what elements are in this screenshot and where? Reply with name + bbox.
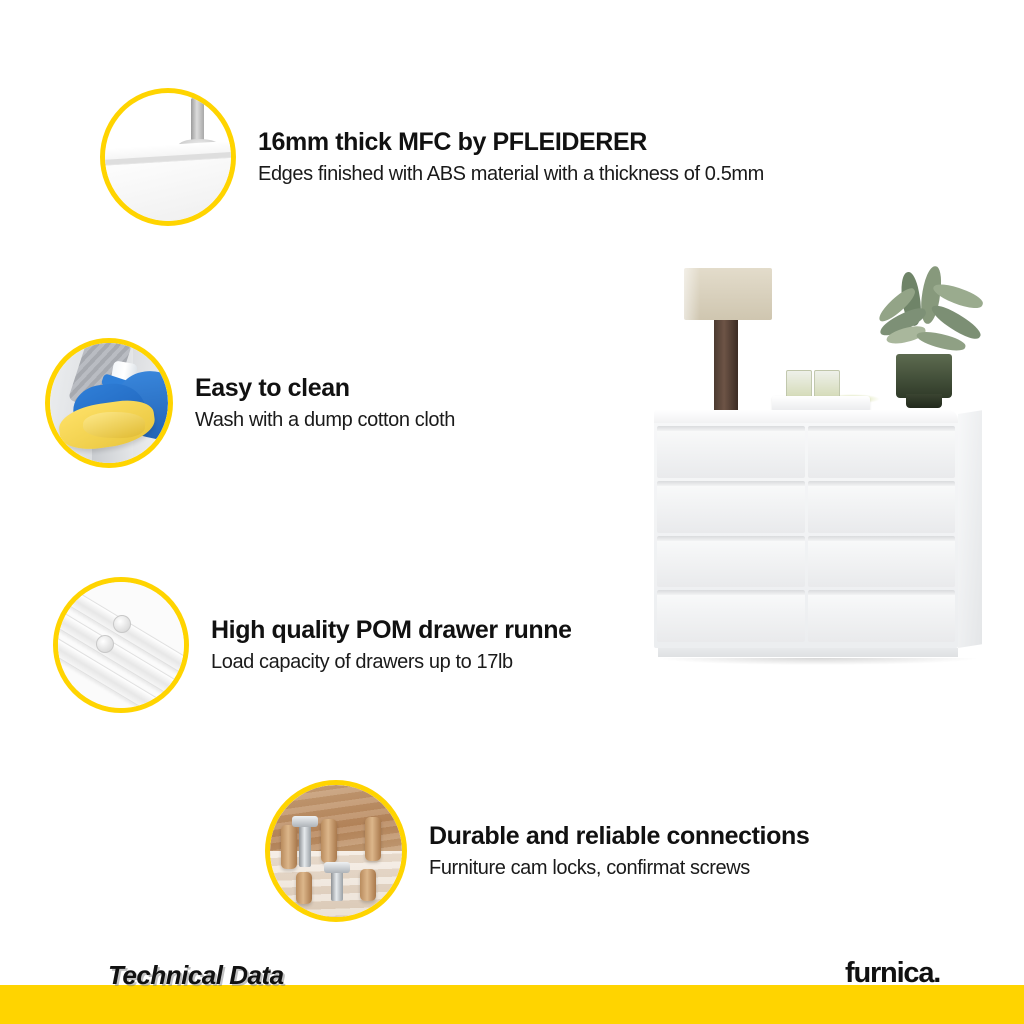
wooden-dowel: [321, 819, 337, 863]
vase-foot: [906, 394, 942, 408]
metal-leg-rod: [191, 98, 204, 144]
drawer-runner-rails-photo: [58, 582, 184, 708]
feature-text-block: Easy to clean Wash with a dump cotton cl…: [195, 375, 455, 430]
confirmat-screw: [331, 867, 343, 901]
table-lamp: [684, 268, 772, 420]
wooden-dowel: [360, 869, 376, 901]
cabinet-edge-icon: [100, 88, 236, 226]
feature-row-mfc-board: 16mm thick MFC by PFLEIDERER Edges finis…: [100, 88, 764, 226]
chest-of-drawers: [654, 410, 982, 660]
lamp-shade: [684, 268, 772, 320]
runner-roller: [96, 635, 114, 653]
feature-subtitle: Edges finished with ABS material with a …: [258, 163, 764, 185]
feature-text-block: Durable and reliable connections Furnitu…: [429, 823, 809, 878]
product-photo: [654, 258, 994, 660]
chest-plinth: [658, 648, 958, 657]
feature-text-block: 16mm thick MFC by PFLEIDERER Edges finis…: [258, 129, 764, 184]
feature-title-clip: High quality POM drawer runners: [211, 617, 571, 643]
drawer-front[interactable]: [808, 426, 956, 478]
cabinet-edge-photo: [105, 93, 231, 221]
feature-title: Easy to clean: [195, 375, 455, 401]
brand-logo: furnica.: [845, 957, 940, 990]
drawer-front[interactable]: [657, 426, 805, 478]
cleaning-icon: [45, 338, 173, 468]
lamp-post: [714, 320, 738, 412]
cabinet-front-panel: [105, 156, 231, 221]
drawer-front[interactable]: [808, 590, 956, 642]
infographic-page: 16mm thick MFC by PFLEIDERER Edges finis…: [0, 0, 1024, 1024]
wooden-dowel: [281, 825, 297, 869]
feature-title: High quality POM drawer runners: [211, 617, 571, 643]
drawer-front[interactable]: [808, 481, 956, 533]
drawer-front[interactable]: [657, 481, 805, 533]
gloved-hands-cleaning-photo: [50, 343, 168, 463]
feature-subtitle: Wash with a dump cotton cloth: [195, 409, 455, 431]
feature-row-connections: Durable and reliable connections Furnitu…: [265, 780, 809, 922]
drawer-front[interactable]: [808, 536, 956, 588]
feature-row-drawer-runners: High quality POM drawer runners Load cap…: [53, 577, 571, 713]
chest-top-panel: [654, 410, 958, 424]
wooden-dowel: [365, 817, 381, 861]
feature-subtitle: Load capacity of drawers up to 17lb: [211, 651, 571, 673]
chest-side-panel: [958, 410, 982, 648]
feature-title: Durable and reliable connections: [429, 823, 809, 849]
feature-row-easy-clean: Easy to clean Wash with a dump cotton cl…: [45, 338, 455, 468]
drawer-runner-icon: [53, 577, 189, 713]
drawer-grid: [657, 426, 955, 642]
section-label: Technical Data: [108, 960, 284, 991]
feature-text-block: High quality POM drawer runners Load cap…: [211, 617, 571, 672]
cam-lock-icon: [265, 780, 407, 922]
plant-vase: [872, 262, 984, 412]
glass-vase: [896, 354, 952, 398]
confirmat-screw: [299, 821, 311, 867]
wooden-dowel: [296, 872, 312, 904]
chest-shadow: [660, 658, 976, 665]
feature-subtitle: Furniture cam locks, confirmat screws: [429, 857, 809, 879]
feature-title: 16mm thick MFC by PFLEIDERER: [258, 129, 764, 155]
dowels-and-cam-screws-photo: [270, 785, 402, 917]
drawer-front[interactable]: [657, 536, 805, 588]
drawer-front[interactable]: [657, 590, 805, 642]
